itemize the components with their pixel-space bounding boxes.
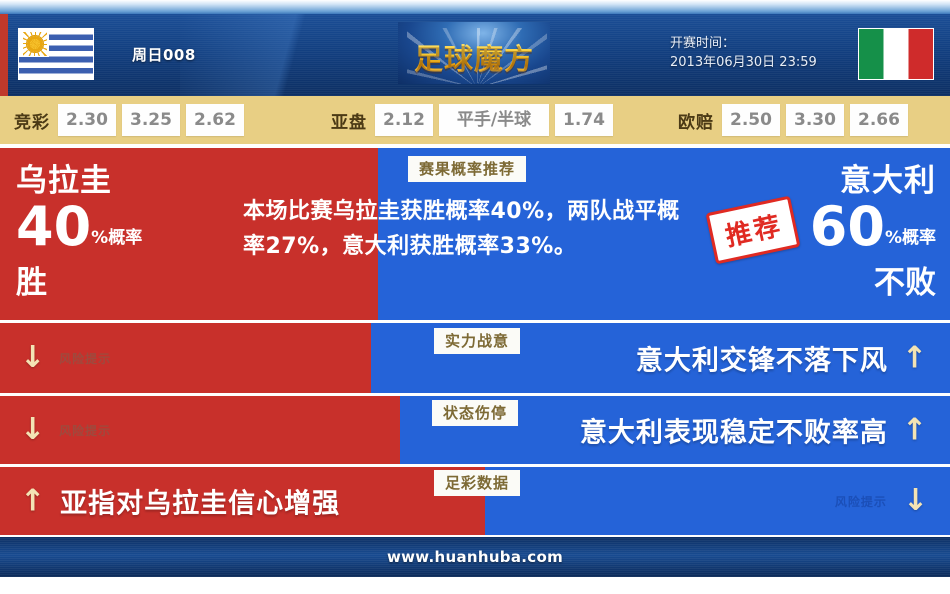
footer-bar: www.huanhuba.com xyxy=(0,537,950,577)
info-row-red-half: ↓ 风险提示 xyxy=(0,396,400,464)
uruguay-sun-icon xyxy=(27,36,43,52)
odds-cell[interactable]: 平手/半球 xyxy=(439,104,549,136)
away-team-result: 不败 xyxy=(810,265,936,301)
info-row-blue-half: 风险提示 ↓ xyxy=(485,467,950,535)
odds-cell[interactable]: 2.62 xyxy=(186,104,244,136)
risk-warning-left: ↓ 风险提示 xyxy=(20,415,111,445)
home-team-result: 胜 xyxy=(16,265,142,301)
logo-text: 足球魔方 xyxy=(398,36,550,78)
away-team-pct-unit: %概率 xyxy=(885,228,936,248)
down-arrow-icon: ↓ xyxy=(20,415,45,445)
odds-cell[interactable]: 3.30 xyxy=(786,104,844,136)
uruguay-flag-icon xyxy=(18,28,94,80)
info-row-red-half: ↑ 亚指对乌拉圭信心增强 xyxy=(0,467,485,535)
odds-cell[interactable]: 2.50 xyxy=(722,104,780,136)
match-preview-card: 周日008 足球魔方 开赛时间： 2013年06月30日 23:59 竞彩 2.… xyxy=(0,0,950,594)
kickoff-label: 开赛时间： xyxy=(670,34,817,53)
info-message-right: 意大利表现稳定不败率高 ↑ xyxy=(580,411,928,450)
kickoff-block: 开赛时间： 2013年06月30日 23:59 xyxy=(670,34,817,72)
section-tab-strength: 实力战意 xyxy=(434,328,520,354)
match-number: 周日008 xyxy=(132,44,196,65)
info-message-text: 意大利表现稳定不败率高 xyxy=(580,411,888,450)
odds-bar: 竞彩 2.30 3.25 2.62 亚盘 2.12 平手/半球 1.74 欧赔 … xyxy=(0,96,950,144)
away-team-pct-line: 60%概率 xyxy=(810,200,936,265)
away-team-pct: 60 xyxy=(810,195,885,258)
odds-group-label: 亚盘 xyxy=(331,108,367,133)
up-arrow-icon: ↑ xyxy=(902,343,928,373)
info-message-text: 亚指对乌拉圭信心增强 xyxy=(60,482,340,521)
odds-cell[interactable]: 2.30 xyxy=(58,104,116,136)
info-message-right: 意大利交锋不落下风 ↑ xyxy=(636,339,928,378)
odds-group-oupei: 欧赔 2.50 3.30 2.66 xyxy=(678,96,914,144)
info-message-text: 意大利交锋不落下风 xyxy=(636,339,888,378)
header-diagonal-sheen xyxy=(180,14,400,96)
down-arrow-icon: ↓ xyxy=(903,486,928,516)
risk-warning-label: 风险提示 xyxy=(835,493,887,510)
kickoff-time: 2013年06月30日 23:59 xyxy=(670,53,817,72)
home-team-pct: 40 xyxy=(16,195,91,258)
info-message-left: ↑ 亚指对乌拉圭信心增强 xyxy=(20,482,340,521)
risk-warning-right: 风险提示 ↓ xyxy=(835,486,928,516)
odds-group-label: 竞彩 xyxy=(14,108,50,133)
home-team-pct-unit: %概率 xyxy=(91,228,142,248)
risk-warning-left: ↓ 风险提示 xyxy=(20,343,111,373)
probability-summary-text: 本场比赛乌拉圭获胜概率40%，两队战平概率27%，意大利获胜概率33%。 xyxy=(243,194,683,264)
odds-cell[interactable]: 1.74 xyxy=(555,104,613,136)
section-tab-probability: 赛果概率推荐 xyxy=(408,156,526,182)
site-url[interactable]: www.huanhuba.com xyxy=(0,548,950,566)
italy-tricolour xyxy=(859,29,933,79)
odds-cell[interactable]: 2.12 xyxy=(375,104,433,136)
section-tab-form-injury: 状态伤停 xyxy=(432,400,518,426)
down-arrow-icon: ↓ xyxy=(20,343,45,373)
away-team-probability: 意大利 60%概率 不败 xyxy=(810,162,936,301)
odds-group-jingcai: 竞彩 2.30 3.25 2.62 xyxy=(14,96,250,144)
odds-cell[interactable]: 3.25 xyxy=(122,104,180,136)
up-arrow-icon: ↑ xyxy=(902,415,928,445)
odds-cell[interactable]: 2.66 xyxy=(850,104,908,136)
info-row-red-half: ↓ 风险提示 xyxy=(0,323,371,393)
italy-flag-icon xyxy=(858,28,934,80)
site-logo: 足球魔方 xyxy=(398,22,550,84)
home-team-pct-line: 40%概率 xyxy=(16,200,142,265)
home-team-probability: 乌拉圭 40%概率 胜 xyxy=(16,162,142,301)
section-tab-betting-data: 足彩数据 xyxy=(434,470,520,496)
odds-group-label: 欧赔 xyxy=(678,108,714,133)
risk-warning-label: 风险提示 xyxy=(59,350,111,367)
up-arrow-icon: ↑ xyxy=(20,486,46,516)
risk-warning-label: 风险提示 xyxy=(59,422,111,439)
header-red-accent xyxy=(0,14,8,96)
bottom-white-strip xyxy=(0,577,950,594)
odds-group-yapan: 亚盘 2.12 平手/半球 1.74 xyxy=(331,96,619,144)
